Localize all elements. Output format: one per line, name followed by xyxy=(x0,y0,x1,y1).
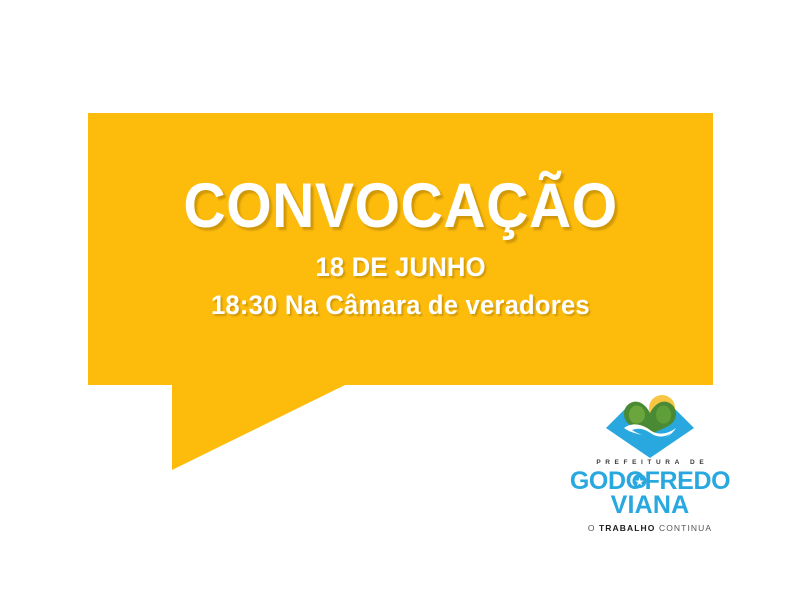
subline-time-location: 18:30 Na Câmara de veradores xyxy=(211,286,590,324)
logo-tagline-bold: TRABALHO xyxy=(599,523,656,533)
godofredo-viana-emblem-icon xyxy=(598,392,702,458)
logo-star-icon: ★ xyxy=(635,476,645,488)
logo-wordmark: GODOFREDO ★ VIANA xyxy=(570,468,730,520)
logo-tagline: O TRABALHO CONTINUA xyxy=(562,524,738,533)
logo-tagline-suffix: CONTINUA xyxy=(656,523,713,533)
announcement-poster: CONVOCAÇÃO 18 DE JUNHO 18:30 Na Câmara d… xyxy=(0,0,800,600)
bubble-text-block: CONVOCAÇÃO 18 DE JUNHO 18:30 Na Câmara d… xyxy=(88,113,713,385)
headline-convocacao: CONVOCAÇÃO xyxy=(183,174,617,238)
municipality-logo: PREFEITURA DE GODOFREDO ★ VIANA O TRABAL… xyxy=(562,392,738,544)
logo-eyebrow-prefeitura: PREFEITURA DE xyxy=(562,460,738,467)
logo-name-viana: VIANA xyxy=(611,491,690,519)
subline-date: 18 DE JUNHO xyxy=(315,248,485,286)
logo-tagline-prefix: O xyxy=(588,523,599,533)
